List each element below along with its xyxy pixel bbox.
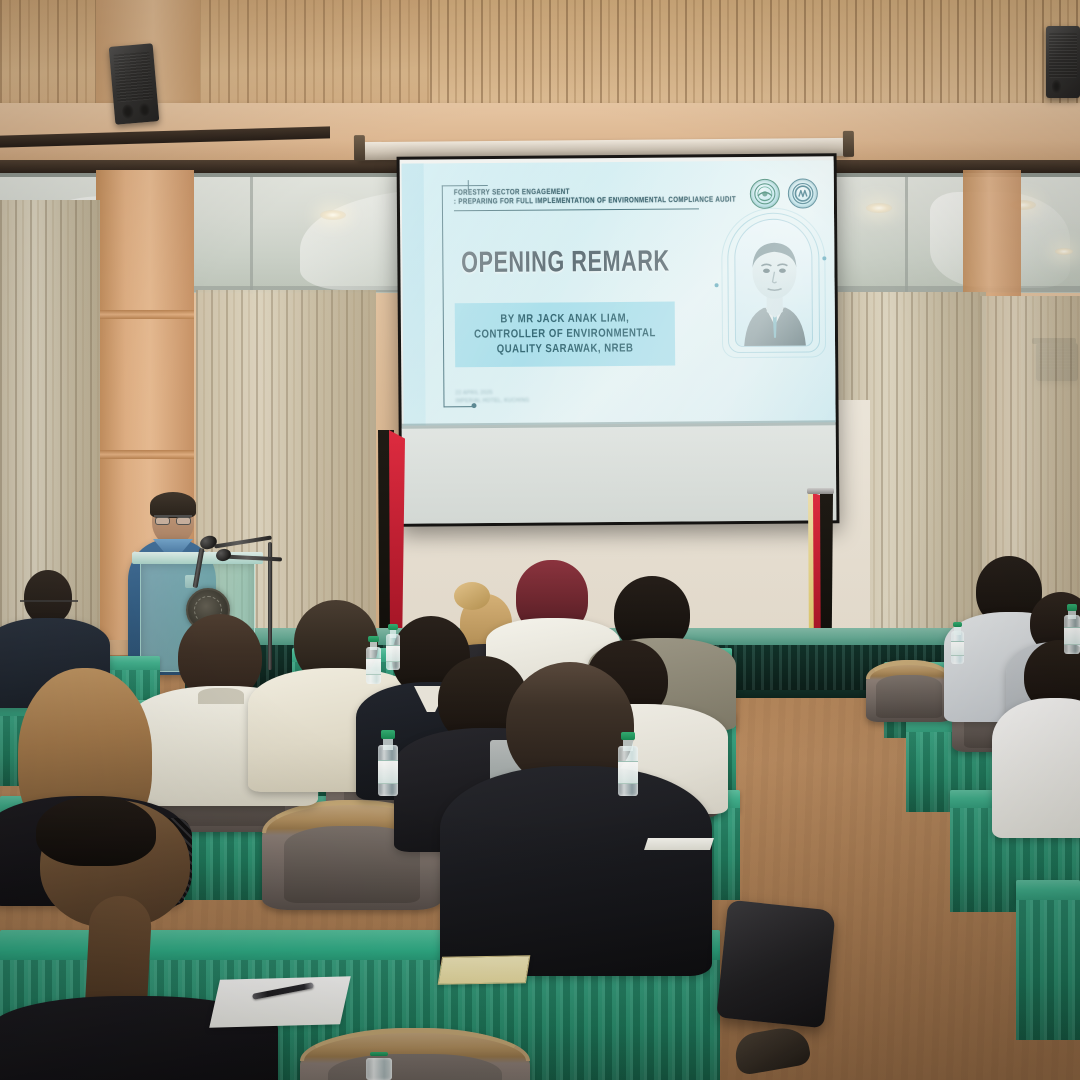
note-paper <box>209 976 351 1027</box>
bottle-cap <box>388 624 398 630</box>
bottle-label <box>951 641 964 656</box>
speaker-woofer <box>1052 80 1061 93</box>
slide-subtitle-box: BY MR JACK ANAK LIAM, CONTROLLER OF ENVI… <box>455 302 675 368</box>
yellow-note-card <box>438 955 531 985</box>
bottle-label <box>1064 627 1080 645</box>
table-skirt-right-4 <box>1016 900 1080 1040</box>
pillar-band-1 <box>96 310 194 319</box>
downlight-5 <box>1055 248 1073 255</box>
speaker-grill <box>1049 33 1078 78</box>
chair-seat-pad <box>876 675 941 718</box>
presenter-glasses-icon <box>154 515 192 523</box>
bottle-cap <box>621 732 635 740</box>
portrait-frame <box>734 218 813 347</box>
bottle-cap <box>1067 604 1078 611</box>
backpack <box>716 900 836 1029</box>
portrait-dot-left <box>715 283 719 287</box>
bottle-cap <box>953 622 962 627</box>
slide-footer: 22 APRIL 2025 IMPERIAL HOTEL, KUCHING <box>455 388 655 406</box>
speaker-portrait <box>734 218 813 347</box>
projector-screen-surface: FORESTRY SECTOR ENGAGEMENT : PREPARING F… <box>400 156 837 523</box>
bottle-cap <box>381 730 395 739</box>
chair-frame <box>866 660 952 679</box>
chair-right-2 <box>866 660 952 722</box>
chair-foreground <box>300 1028 530 1080</box>
water-bottle-7 <box>366 1052 392 1080</box>
flag-right-black-band <box>820 493 833 643</box>
attendee-collar <box>198 688 244 704</box>
presentation-slide: FORESTRY SECTOR ENGAGEMENT : PREPARING F… <box>402 160 837 425</box>
slide-subtitle-line-3: QUALITY SARAWAK, NREB <box>461 339 669 359</box>
paper-on-table-right <box>644 838 714 850</box>
screen-bracket-right <box>843 131 854 157</box>
downlight-3 <box>866 203 892 213</box>
slide-title: OPENING REMARK <box>448 243 683 279</box>
flag-right <box>808 493 834 643</box>
attendee-foreground-dark-suit <box>440 662 706 962</box>
attendee-hair-bun <box>454 582 490 610</box>
slide-header-line-2: : PREPARING FOR FULL IMPLEMENTATION OF E… <box>454 194 722 207</box>
portrait-dot-right <box>822 256 826 260</box>
attendee-partial-head <box>36 796 156 866</box>
slide-header-rule <box>454 208 699 211</box>
water-bottle-6 <box>1064 604 1080 654</box>
wall-speaker-top-left <box>109 43 160 125</box>
screen-unlit-area <box>402 424 837 523</box>
water-bottle-2 <box>386 624 400 670</box>
water-bottle-4 <box>618 732 638 796</box>
bottle-label <box>378 760 398 784</box>
bottle-cap <box>370 1052 388 1056</box>
bottle-label <box>618 761 638 784</box>
glasses-lens-left <box>155 517 170 525</box>
glass-mullion-c <box>905 176 908 294</box>
attendee-jacket <box>440 766 712 976</box>
slide-bracket-vertical <box>442 185 445 407</box>
slide-header: FORESTRY SECTOR ENGAGEMENT : PREPARING F… <box>454 185 722 211</box>
slide-side-band <box>402 164 426 426</box>
speaker-grill <box>113 51 154 102</box>
speaker-woofer-b <box>138 102 151 117</box>
bottle-label <box>386 645 400 662</box>
pillar-band-2 <box>96 450 194 459</box>
projector-screen: FORESTRY SECTOR ENGAGEMENT : PREPARING F… <box>397 153 840 526</box>
conference-hall-photo: FORESTRY SECTOR ENGAGEMENT : PREPARING F… <box>0 0 1080 1080</box>
glass-mullion-a <box>250 176 253 294</box>
bottle-cap <box>368 636 378 642</box>
monogram-logo-icon <box>788 178 818 208</box>
speaker-woofer <box>122 104 135 119</box>
attendee-shirt <box>992 698 1080 838</box>
wall-speaker-top-right <box>1046 26 1080 98</box>
bottle-label <box>366 658 381 675</box>
flag-right-rail <box>807 488 834 494</box>
attendee-right-white-shirt <box>1000 640 1080 830</box>
water-bottle-1 <box>366 636 381 684</box>
glasses-lens-right <box>176 517 191 525</box>
downlight-1 <box>320 210 346 220</box>
ribbed-ceiling-panel-right <box>430 0 1080 108</box>
water-bottle-3 <box>378 730 398 796</box>
slide-footer-line-2: IMPERIAL HOTEL, KUCHING <box>455 396 655 406</box>
nreb-logo-icon <box>750 179 780 209</box>
chair-frame <box>300 1028 530 1061</box>
bottle-body <box>366 1058 392 1080</box>
screen-bracket-left <box>354 135 365 161</box>
table-top-right-4 <box>1016 880 1080 902</box>
attendee-head <box>24 570 72 624</box>
attendee-glasses-icon <box>20 600 78 609</box>
water-bottle-5 <box>951 622 964 664</box>
